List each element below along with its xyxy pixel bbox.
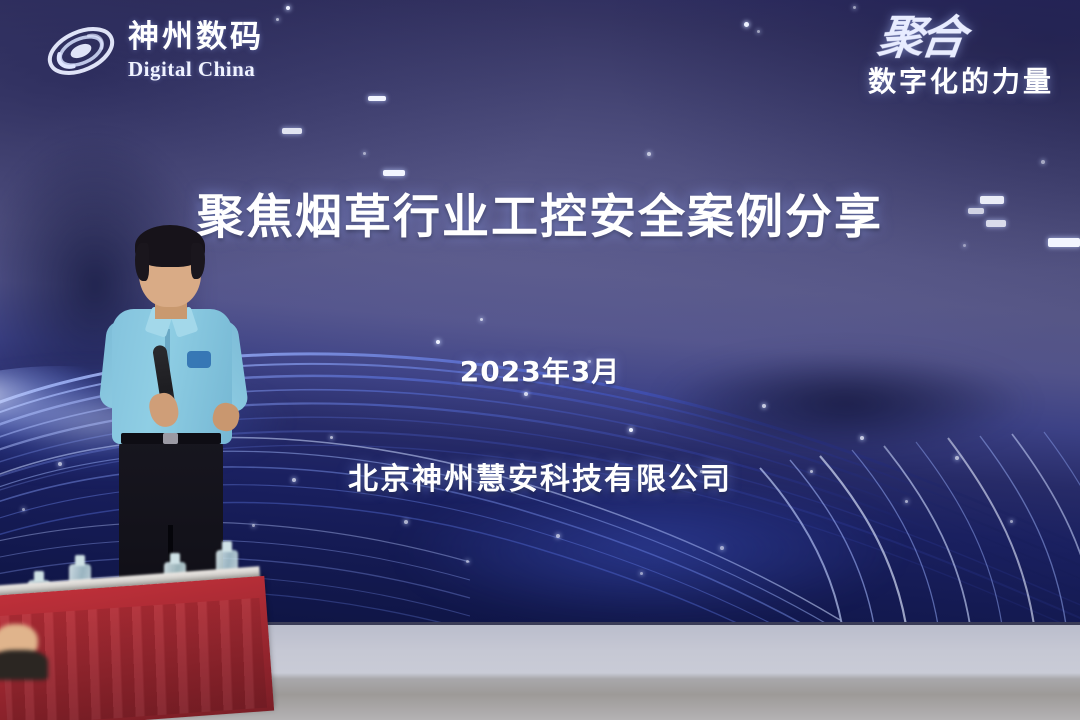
speaker-chest-logo bbox=[187, 351, 211, 368]
conference-photo: 聚焦烟草行业工控安全案例分享 2023年3月 北京神州慧安科技有限公司 神州 bbox=[0, 0, 1080, 720]
brand-logo: 神州数码 Digital China bbox=[44, 18, 264, 84]
brand-name-en: Digital China bbox=[128, 59, 264, 80]
event-logo: 聚合 数字化的力量 bbox=[868, 16, 1054, 100]
speaker-hair-side-right bbox=[191, 243, 205, 279]
event-tagline-cn: 数字化的力量 bbox=[868, 60, 1054, 100]
seated-attendee-shoulder bbox=[0, 650, 48, 680]
digital-china-swirl-icon bbox=[44, 18, 118, 84]
speaker-belt-buckle bbox=[163, 433, 178, 444]
red-table-cloth bbox=[0, 576, 274, 720]
event-mark-cn: 聚合 bbox=[865, 16, 964, 58]
speaker-hair-side-left bbox=[135, 243, 149, 281]
brand-text: 神州数码 Digital China bbox=[128, 22, 264, 80]
brand-name-cn: 神州数码 bbox=[128, 22, 264, 53]
